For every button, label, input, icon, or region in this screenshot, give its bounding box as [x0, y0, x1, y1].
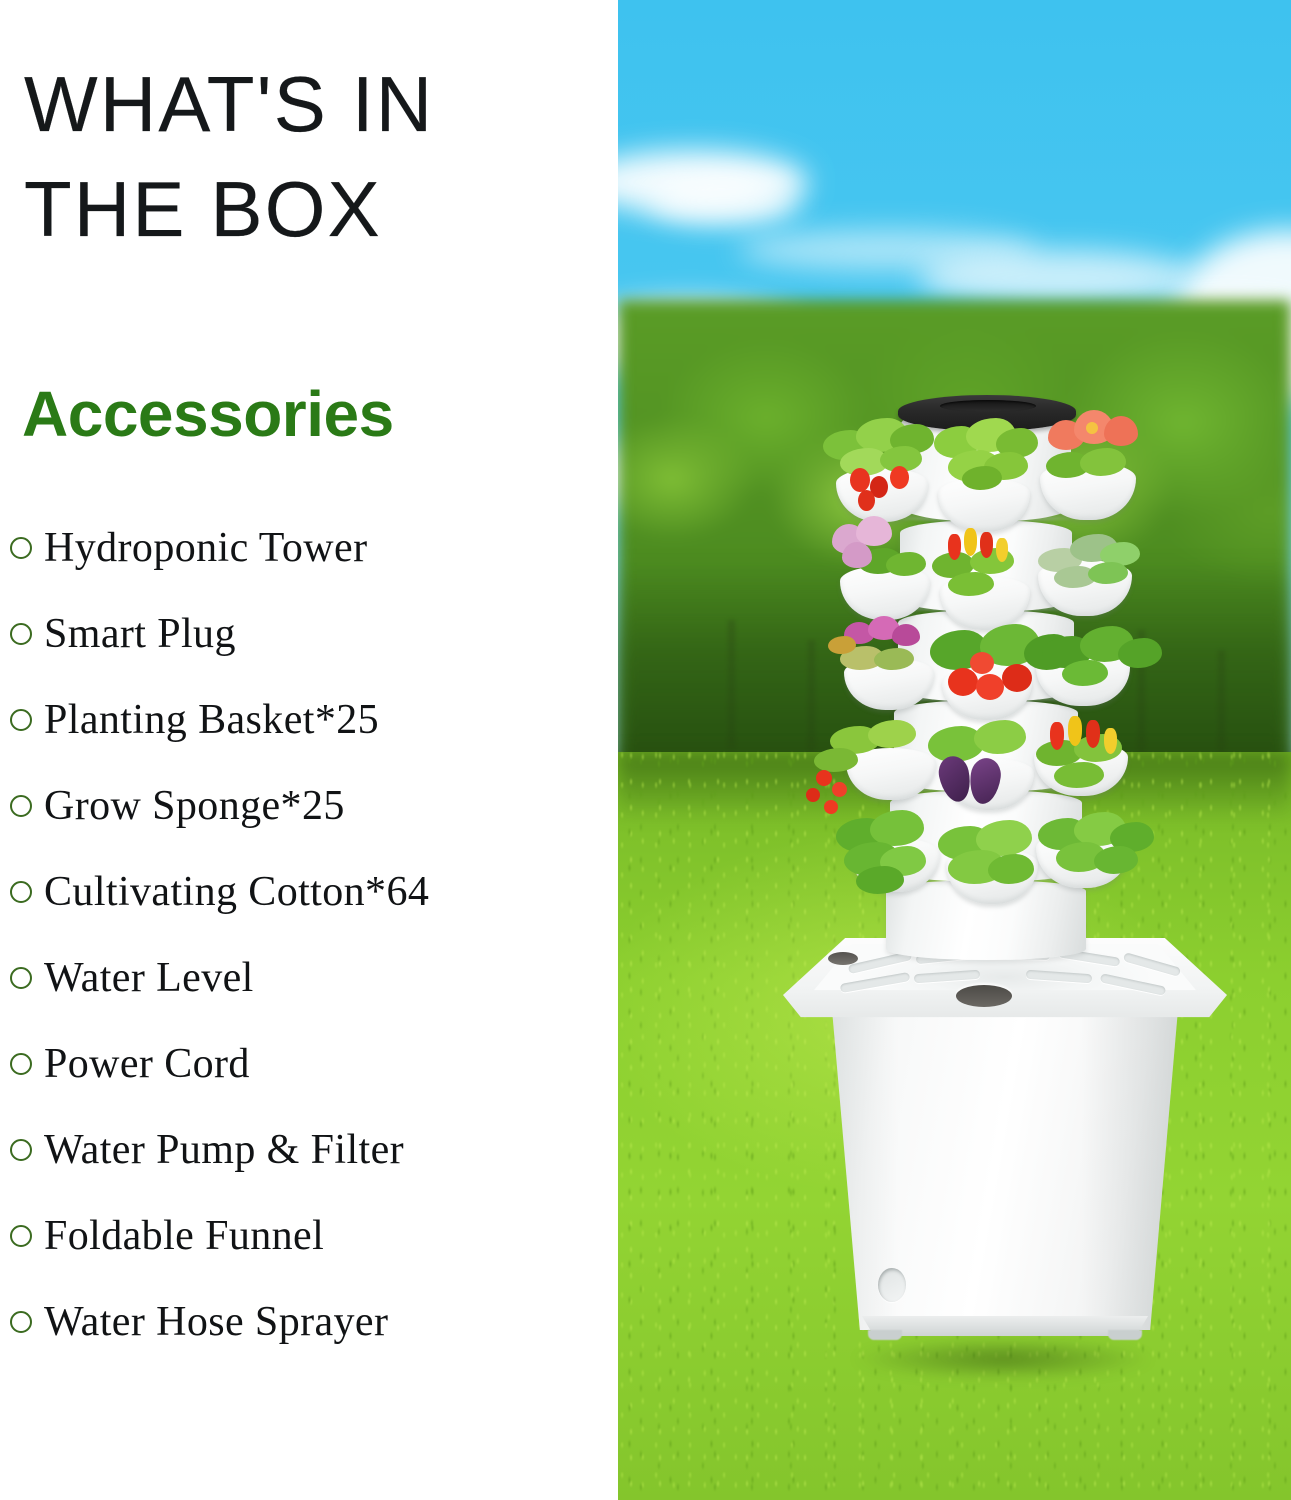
- accessories-list: Hydroponic Tower Smart Plug Planting Bas…: [0, 505, 618, 1365]
- list-item-label: Water Pump & Filter: [44, 1129, 404, 1171]
- list-item-label: Foldable Funnel: [44, 1215, 324, 1257]
- circle-bullet-icon: [10, 1225, 32, 1247]
- list-item: Power Cord: [0, 1021, 618, 1107]
- list-item: Foldable Funnel: [0, 1193, 618, 1279]
- list-item-label: Grow Sponge*25: [44, 785, 345, 827]
- reservoir-tank-shading: [814, 1000, 1196, 1330]
- tower-lid-handle: [940, 400, 1036, 412]
- product-photo: [618, 0, 1291, 1500]
- circle-bullet-icon: [10, 709, 32, 731]
- list-item: Water Level: [0, 935, 618, 1021]
- circle-bullet-icon: [10, 1311, 32, 1333]
- lid-vent-hole: [828, 952, 858, 965]
- tank-foot: [868, 1330, 902, 1340]
- circle-bullet-icon: [10, 623, 32, 645]
- list-item: Water Pump & Filter: [0, 1107, 618, 1193]
- list-item: Hydroponic Tower: [0, 505, 618, 591]
- planting-pocket: [840, 566, 930, 620]
- list-item-label: Smart Plug: [44, 613, 236, 655]
- list-item: Cultivating Cotton*64: [0, 849, 618, 935]
- circle-bullet-icon: [10, 1139, 32, 1161]
- list-item: Smart Plug: [0, 591, 618, 677]
- list-item: Grow Sponge*25: [0, 763, 618, 849]
- list-item: Water Hose Sprayer: [0, 1279, 618, 1365]
- circle-bullet-icon: [10, 881, 32, 903]
- page-title: WHAT'S IN THE BOX: [24, 52, 584, 261]
- list-item: Planting Basket*25: [0, 677, 618, 763]
- list-item-label: Water Hose Sprayer: [44, 1301, 388, 1343]
- lid-drain-hole: [956, 985, 1012, 1007]
- list-item-label: Planting Basket*25: [44, 699, 379, 741]
- tank-foot: [1108, 1330, 1142, 1340]
- list-item-label: Cultivating Cotton*64: [44, 871, 429, 913]
- drain-port: [878, 1268, 906, 1302]
- text-panel: WHAT'S IN THE BOX Accessories Hydroponic…: [0, 0, 618, 1500]
- infographic-page: WHAT'S IN THE BOX Accessories Hydroponic…: [0, 0, 1291, 1500]
- list-item-label: Hydroponic Tower: [44, 527, 367, 569]
- accessories-heading: Accessories: [22, 382, 394, 446]
- list-item-label: Power Cord: [44, 1043, 250, 1085]
- circle-bullet-icon: [10, 537, 32, 559]
- circle-bullet-icon: [10, 1053, 32, 1075]
- circle-bullet-icon: [10, 795, 32, 817]
- circle-bullet-icon: [10, 967, 32, 989]
- hydroponic-tower: [618, 0, 1291, 1500]
- list-item-label: Water Level: [44, 957, 254, 999]
